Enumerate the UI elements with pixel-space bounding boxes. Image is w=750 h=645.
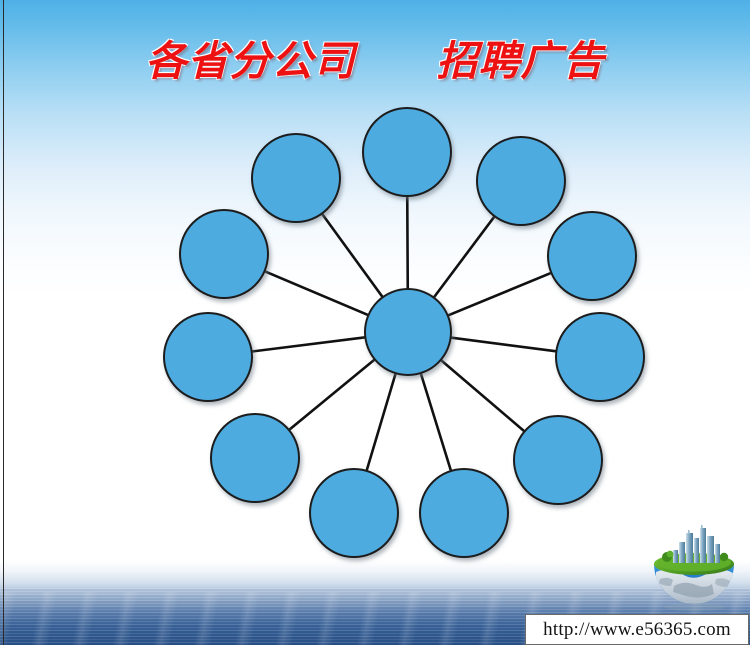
spoke-bottom-left [366,372,396,472]
node-left[interactable] [164,313,252,401]
spoke-right-upper [447,272,552,316]
node-upper-left[interactable] [252,134,340,222]
node-upper-right[interactable] [477,137,565,225]
globe-shadow [664,603,724,611]
spoke-lower-left [288,359,375,431]
node-bottom-left[interactable] [310,469,398,557]
spoke-left [251,337,367,351]
node-bottom-right[interactable] [420,469,508,557]
node-left-upper[interactable] [180,210,268,298]
spoke-upper-left [321,213,383,298]
watermark-url-box[interactable]: http://www.e56365.com [525,614,749,645]
radial-diagram-svg [0,0,750,645]
spoke-right [450,337,558,351]
spoke-left-upper [264,271,370,316]
node-right-upper[interactable] [548,212,636,300]
hub-node[interactable] [365,289,451,375]
node-lower-left[interactable] [211,414,299,502]
watermark-url-text: http://www.e56365.com [543,619,731,641]
hub-group [365,289,451,375]
title-segment-recruitment: 招聘广告 [436,36,604,86]
node-lower-right[interactable] [514,416,602,504]
radial-diagram [0,0,750,645]
slide-canvas: 各省分公司 招聘广告 [0,0,750,645]
city-buildings [673,525,720,563]
spoke-top [407,195,408,290]
globe-city-logo-icon [646,524,742,612]
spoke-lower-right [440,359,525,432]
globe-city-logo [646,524,742,612]
spoke-bottom-right [420,372,451,472]
page-title: 各省分公司 招聘广告 [0,36,750,86]
node-top[interactable] [363,108,451,196]
node-right[interactable] [556,313,644,401]
title-segment-company: 各省分公司 [146,36,356,86]
spoke-upper-right [433,215,495,298]
